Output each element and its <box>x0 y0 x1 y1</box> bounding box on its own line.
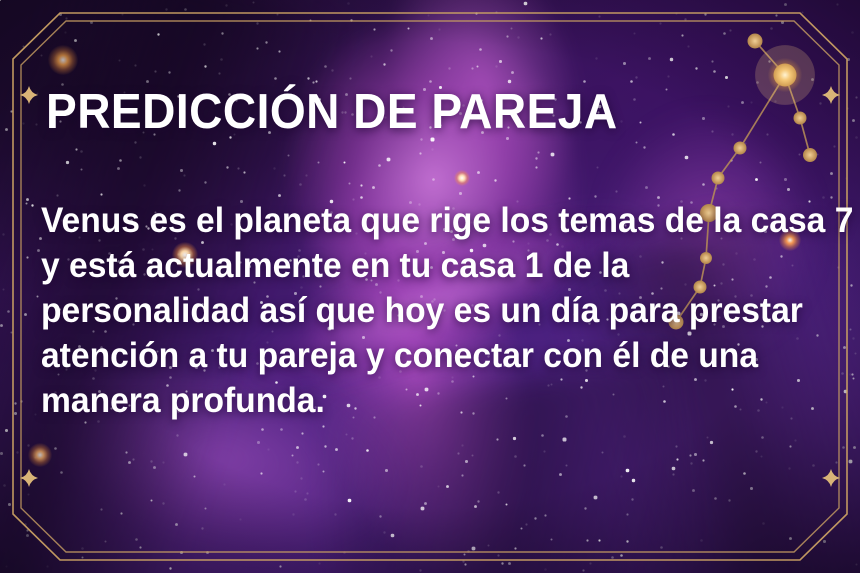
prediction-body-text: Venus es el planeta que rige los temas d… <box>41 198 819 423</box>
prediction-body-line: Venus es el planeta que rige los temas d… <box>41 198 819 243</box>
prediction-body-line: y está actualmente en tu casa 1 de la <box>41 243 819 288</box>
prediction-card: PREDICCIÓN DE PAREJA Venus es el planeta… <box>0 0 860 573</box>
prediction-body-line: manera profunda. <box>41 378 819 423</box>
prediction-body-line: atención a tu pareja y conectar con él d… <box>41 333 819 378</box>
prediction-body-line: personalidad así que hoy es un día para … <box>41 288 819 333</box>
text-content: PREDICCIÓN DE PAREJA Venus es el planeta… <box>0 0 860 573</box>
page-title: PREDICCIÓN DE PAREJA <box>46 88 618 137</box>
